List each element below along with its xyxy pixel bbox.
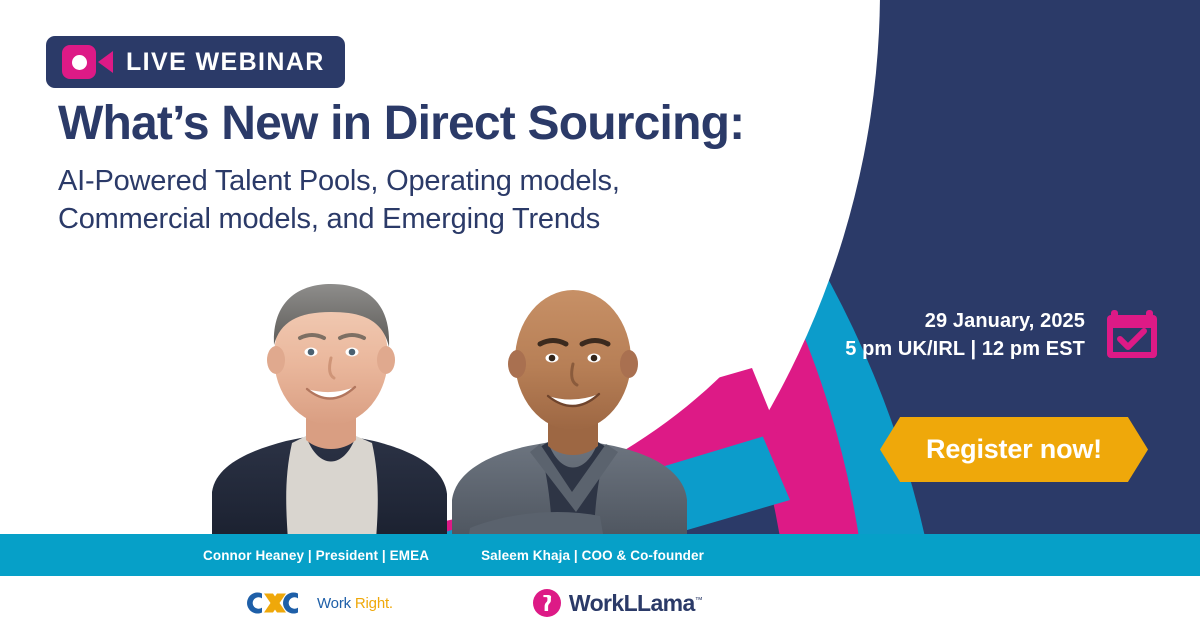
- workllama-logo: WorkLLama™: [533, 589, 702, 617]
- cxc-logomark: [240, 589, 310, 617]
- event-date: 29 January, 2025: [845, 307, 1085, 335]
- event-time: 5 pm UK/IRL | 12 pm EST: [845, 335, 1085, 363]
- cxc-tagline-right: Right.: [355, 595, 393, 612]
- video-camera-icon: [62, 45, 113, 79]
- workllama-wordmark: WorkLLama™: [569, 590, 702, 617]
- workllama-trademark: ™: [695, 595, 702, 604]
- cxc-tagline-work: Work: [317, 595, 355, 612]
- cxc-logo: Work Right.: [240, 589, 393, 617]
- headline-block: What’s New in Direct Sourcing: AI-Powere…: [58, 98, 744, 238]
- speaker-credits-bar: Connor Heaney | President | EMEA Saleem …: [0, 534, 1200, 576]
- banner-canvas: LIVE WEBINAR What’s New in Direct Sourci…: [0, 0, 1200, 630]
- subtitle-line-1: AI-Powered Talent Pools, Operating model…: [58, 162, 744, 200]
- workllama-text: WorkLLama: [569, 590, 695, 616]
- speaker-credit-1: Connor Heaney | President | EMEA: [203, 548, 429, 563]
- event-datetime: 29 January, 2025 5 pm UK/IRL | 12 pm EST: [845, 307, 1085, 364]
- speaker-credit-2: Saleem Khaja | COO & Co-founder: [481, 548, 704, 563]
- footer-logo-bar: Work Right. WorkLLama™: [0, 576, 1200, 630]
- page-title: What’s New in Direct Sourcing:: [58, 98, 744, 151]
- page-subtitle: AI-Powered Talent Pools, Operating model…: [58, 162, 744, 239]
- live-webinar-label: LIVE WEBINAR: [126, 50, 325, 75]
- calendar-check-icon: [1104, 305, 1160, 366]
- register-now-button[interactable]: Register now!: [880, 417, 1148, 482]
- llama-icon: [533, 589, 561, 617]
- cxc-tagline: Work Right.: [317, 595, 393, 612]
- register-now-label: Register now!: [926, 434, 1102, 465]
- subtitle-line-2: Commercial models, and Emerging Trends: [58, 200, 744, 238]
- live-webinar-badge: LIVE WEBINAR: [46, 36, 345, 88]
